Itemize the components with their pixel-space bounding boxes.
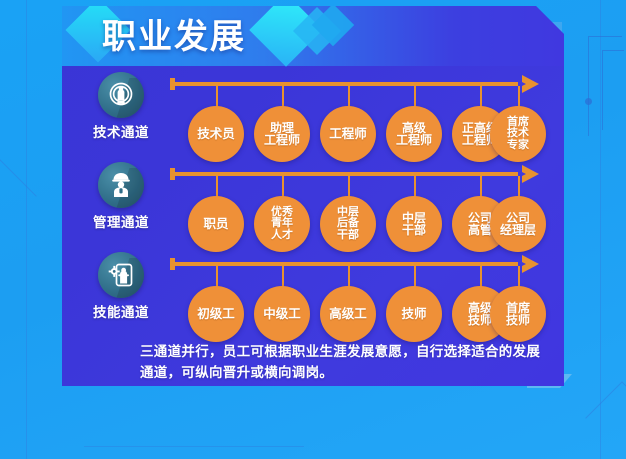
node-bubble[interactable]: 高级工 [320, 286, 376, 342]
node-label: 高级工程师 [392, 122, 436, 146]
gear-person-icon [98, 72, 144, 118]
node-bubble[interactable]: 中级工 [254, 286, 310, 342]
node-bubble[interactable]: 中层干部 [386, 196, 442, 252]
channel-row-technical: 技术通道 技术员 助理工程师 工程师 高级工程师 [62, 68, 564, 156]
node-bubble[interactable]: 技术员 [188, 106, 244, 162]
node-label: 技师 [397, 308, 430, 321]
node-label: 高级工 [325, 308, 371, 321]
node-bubble[interactable]: 技师 [386, 286, 442, 342]
node-stem [348, 176, 350, 198]
node-label: 优秀青年人才 [267, 207, 297, 241]
node-bubble[interactable]: 首席技术专家 [490, 106, 546, 162]
gear-panel-person-icon [98, 252, 144, 298]
channel-row-skill: 技能通道 初级工 中级工 高级工 技师 [62, 248, 564, 336]
node-bubble[interactable]: 初级工 [188, 286, 244, 342]
channel-category-management[interactable]: 管理通道 [78, 162, 164, 231]
node-label: 公司经理层 [496, 212, 540, 236]
node-label: 技术员 [193, 128, 239, 141]
bg-decor-line-left [26, 0, 27, 459]
node-label: 首席技术专家 [503, 117, 533, 151]
node-stem [518, 176, 520, 198]
channel-label: 技能通道 [78, 301, 164, 321]
node-stem [348, 86, 350, 108]
node-stem [216, 176, 218, 198]
channel-axis-line [174, 82, 526, 86]
node-bubble[interactable]: 工程师 [320, 106, 376, 162]
node-label: 初级工 [193, 308, 239, 321]
channel-row-management: 管理通道 职员 优秀青年人才 中层后备干部 中层干部 [62, 158, 564, 246]
node-stem [414, 266, 416, 288]
node-label: 助理工程师 [260, 122, 304, 146]
channel-axis-line [174, 262, 526, 266]
node-bubble[interactable]: 助理工程师 [254, 106, 310, 162]
channel-label: 管理通道 [78, 211, 164, 231]
node-stem [480, 86, 482, 108]
node-stem [216, 86, 218, 108]
node-stem [414, 86, 416, 108]
node-label: 中层干部 [398, 212, 430, 236]
node-stem [480, 266, 482, 288]
hardhat-worker-icon [98, 162, 144, 208]
node-stem [414, 176, 416, 198]
node-stem [282, 86, 284, 108]
node-label: 中层后备干部 [333, 207, 363, 241]
footer-description: 三通道并行，员工可根据职业生涯发展意愿，自行选择适合的发展通道，可纵向晋升或横向… [140, 342, 550, 384]
bg-circuit-path-2 [602, 50, 624, 130]
bg-corner-bottom-right [585, 381, 626, 455]
bg-corner-top-left [0, 159, 37, 233]
bg-decor-line-bottom [84, 446, 304, 447]
node-stem [518, 266, 520, 288]
node-label: 工程师 [325, 128, 371, 141]
channel-label: 技术通道 [78, 121, 164, 141]
node-bubble[interactable]: 职员 [188, 196, 244, 252]
bg-circuit-dot [585, 98, 592, 105]
node-bubble[interactable]: 中层后备干部 [320, 196, 376, 252]
node-bubble[interactable]: 公司经理层 [490, 196, 546, 252]
node-bubble[interactable]: 优秀青年人才 [254, 196, 310, 252]
channel-axis-line [174, 172, 526, 176]
channel-category-skill[interactable]: 技能通道 [78, 252, 164, 321]
node-stem [518, 86, 520, 108]
page-title: 职业发展 [102, 12, 302, 62]
node-bubble[interactable]: 高级工程师 [386, 106, 442, 162]
node-label: 中级工 [259, 308, 305, 321]
node-bubble[interactable]: 首席技师 [490, 286, 546, 342]
node-label: 职员 [199, 218, 232, 231]
channel-category-technical[interactable]: 技术通道 [78, 72, 164, 141]
node-stem [480, 176, 482, 198]
node-stem [282, 176, 284, 198]
node-label: 首席技师 [502, 302, 534, 326]
career-development-panel: 职业发展 技术通道 [62, 6, 564, 386]
node-stem [216, 266, 218, 288]
node-stem [282, 266, 284, 288]
node-stem [348, 266, 350, 288]
